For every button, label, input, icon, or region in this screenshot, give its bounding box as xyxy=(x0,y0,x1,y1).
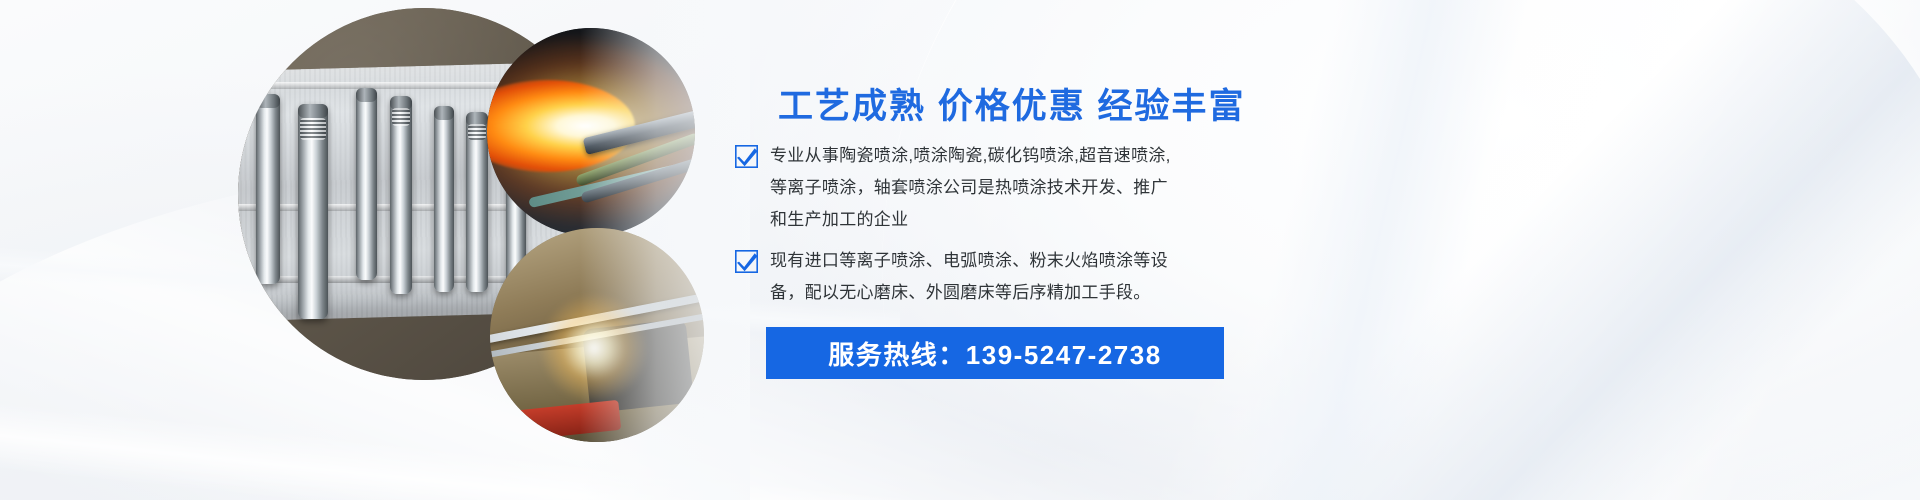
shaft-part xyxy=(434,106,454,292)
check-icon xyxy=(735,250,758,273)
shaft-part xyxy=(298,104,328,319)
photo-fade-mask xyxy=(580,0,750,500)
feature-bullet-text: 专业从事陶瓷喷涂,喷涂陶瓷,碳化钨喷涂,超音速喷涂, 等离子喷涂，轴套喷涂公司是… xyxy=(770,140,1244,236)
bullet-line: 专业从事陶瓷喷涂,喷涂陶瓷,碳化钨喷涂,超音速喷涂, xyxy=(770,140,1244,172)
feature-bullet-text: 现有进口等离子喷涂、电弧喷涂、粉末火焰喷涂等设 备，配以无心磨床、外圆磨床等后序… xyxy=(770,245,1244,309)
bullet-line: 现有进口等离子喷涂、电弧喷涂、粉末火焰喷涂等设 xyxy=(770,245,1244,277)
feature-bullet: 现有进口等离子喷涂、电弧喷涂、粉末火焰喷涂等设 备，配以无心磨床、外圆磨床等后序… xyxy=(735,245,1255,309)
hotline-banner[interactable]: 服务热线：139-5247-2738 xyxy=(766,327,1224,379)
shaft-part xyxy=(256,94,280,284)
headline: 工艺成熟 价格优惠 经验丰富 xyxy=(778,78,1245,129)
banner-content: 工艺成熟 价格优惠 经验丰富 专业从事陶瓷喷涂,喷涂陶瓷,碳化钨喷涂,超音速喷涂… xyxy=(735,0,1920,500)
shaft-part xyxy=(390,96,412,294)
shaft-part xyxy=(466,112,488,292)
bullet-line: 备，配以无心磨床、外圆磨床等后序精加工手段。 xyxy=(770,277,1244,309)
feature-bullet: 专业从事陶瓷喷涂,喷涂陶瓷,碳化钨喷涂,超音速喷涂, 等离子喷涂，轴套喷涂公司是… xyxy=(735,140,1255,236)
shaft-part xyxy=(356,88,377,280)
bullet-line: 和生产加工的企业 xyxy=(770,204,1244,236)
photo-cluster xyxy=(0,0,740,500)
hotline-text: 服务热线：139-5247-2738 xyxy=(828,335,1161,372)
check-icon xyxy=(735,145,758,168)
bullet-line: 等离子喷涂，轴套喷涂公司是热喷涂技术开发、推广 xyxy=(770,172,1244,204)
promo-banner: 工艺成熟 价格优惠 经验丰富 专业从事陶瓷喷涂,喷涂陶瓷,碳化钨喷涂,超音速喷涂… xyxy=(0,0,1920,500)
